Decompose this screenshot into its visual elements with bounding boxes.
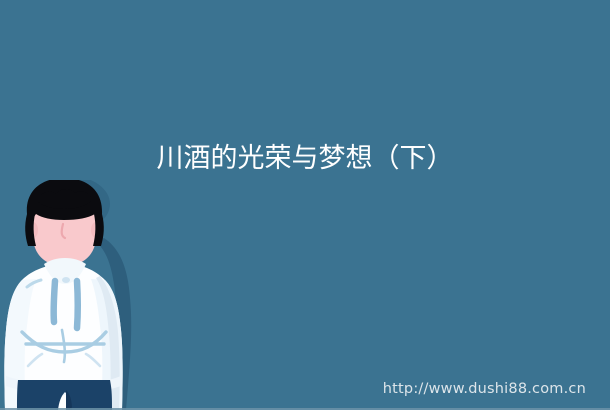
page-title: 川酒的光荣与梦想（下） [0,141,610,177]
person-illustration [0,180,150,410]
drawstring-right [77,281,78,328]
slide-canvas: 川酒的光荣与梦想（下） http://www.dushi88.com.cn [0,0,610,410]
watermark-url: http://www.dushi88.com.cn [383,381,586,397]
hood-knot [62,277,70,283]
drawstring-left [54,281,55,322]
